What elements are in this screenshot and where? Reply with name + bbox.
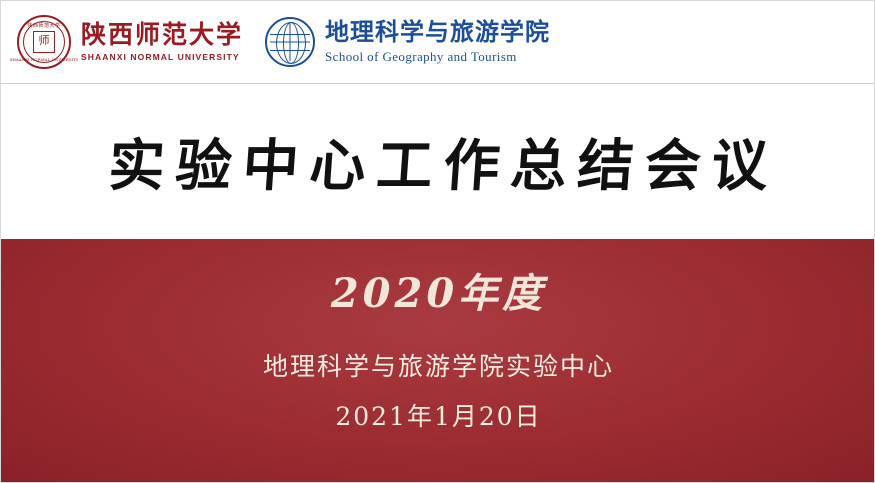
title-area: 实验中心工作总结会议 [1,84,875,239]
seal-top-text: 陕西师范大学 [27,22,60,29]
seal-bottom-text: SHAANXI NORMAL UNIVERSITY [10,57,79,62]
globe-meridian-inner [283,22,299,64]
university-name-block: 陕西师范大学 SHAANXI NORMAL UNIVERSITY [81,22,243,62]
school-name-cn: 地理科学与旅游学院 [325,19,550,44]
year-label: 2020年度 [1,261,875,319]
globe-icon [265,17,315,67]
globe-latitude-upper [270,34,310,35]
seal-center-character: 师 [33,31,55,53]
presentation-slide: 陕西师范大学 师 SHAANXI NORMAL UNIVERSITY 陕西师范大… [0,0,875,483]
slide-title: 实验中心工作总结会议 [95,121,782,202]
university-logo: 陕西师范大学 师 SHAANXI NORMAL UNIVERSITY 陕西师范大… [17,15,243,69]
university-name-cn: 陕西师范大学 [81,22,243,48]
organization-label: 地理科学与旅游学院实验中心 [1,347,875,383]
university-name-en: SHAANXI NORMAL UNIVERSITY [81,52,243,62]
globe-latitude-lower [270,50,310,51]
school-name-en: School of Geography and Tourism [325,49,550,65]
subtitle-band: 2020年度 地理科学与旅游学院实验中心 2021年1月20日 [1,239,875,483]
school-logo: 地理科学与旅游学院 School of Geography and Touris… [265,17,550,67]
date-label: 2021年1月20日 [1,397,875,433]
logo-header: 陕西师范大学 师 SHAANXI NORMAL UNIVERSITY 陕西师范大… [1,1,875,83]
university-seal-icon: 陕西师范大学 师 SHAANXI NORMAL UNIVERSITY [17,15,71,69]
school-name-block: 地理科学与旅游学院 School of Geography and Touris… [325,19,550,64]
